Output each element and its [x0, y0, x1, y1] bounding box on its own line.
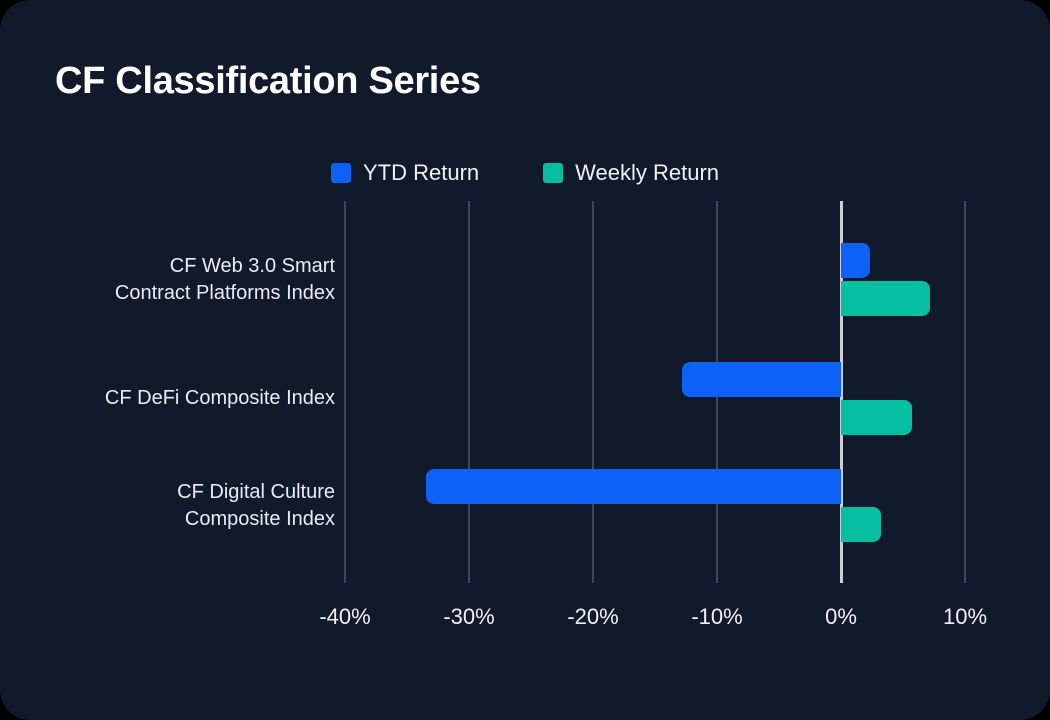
category-label-line: CF Digital Culture [30, 479, 335, 506]
category-label-line: CF DeFi Composite Index [30, 385, 335, 412]
gridline [964, 201, 966, 583]
category-label: CF Web 3.0 SmartContract Platforms Index [30, 253, 335, 307]
category-label: CF Digital CultureComposite Index [30, 479, 335, 533]
bar-ytd-return[interactable] [426, 469, 841, 504]
bar-ytd-return[interactable] [682, 362, 841, 397]
x-axis-tick-label: 10% [943, 604, 987, 630]
bar-weekly-return[interactable] [841, 400, 912, 435]
chart-card: CF Classification Series YTD Return Week… [0, 0, 1050, 720]
category-label-line: Contract Platforms Index [30, 280, 335, 307]
bar-ytd-return[interactable] [841, 243, 870, 278]
category-label: CF DeFi Composite Index [30, 385, 335, 412]
plot-area: -40%-30%-20%-10%0%10%CF Web 3.0 SmartCon… [0, 0, 1050, 720]
bar-weekly-return[interactable] [841, 281, 930, 316]
category-label-line: Composite Index [30, 506, 335, 533]
gridline [344, 201, 346, 583]
gridline [468, 201, 470, 583]
category-label-line: CF Web 3.0 Smart [30, 253, 335, 280]
x-axis-tick-label: -10% [691, 604, 742, 630]
x-axis-tick-label: 0% [825, 604, 857, 630]
x-axis-tick-label: -20% [567, 604, 618, 630]
x-axis-tick-label: -40% [319, 604, 370, 630]
gridline [592, 201, 594, 583]
x-axis-tick-label: -30% [443, 604, 494, 630]
bar-weekly-return[interactable] [841, 507, 881, 542]
